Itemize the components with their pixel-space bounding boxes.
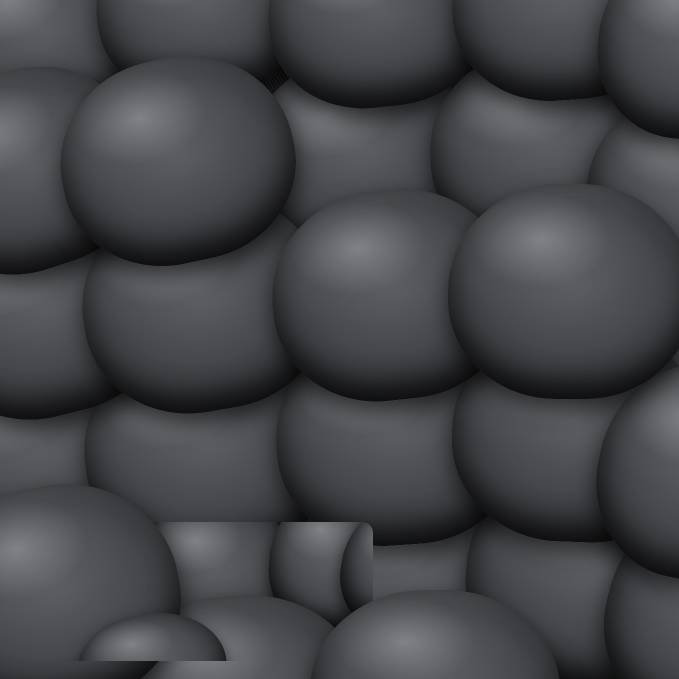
cushion-bump xyxy=(448,184,679,399)
product-feature-image: 30% AIR CONVECTION TECHNOLOGY FOR EFFECT… xyxy=(0,0,679,679)
